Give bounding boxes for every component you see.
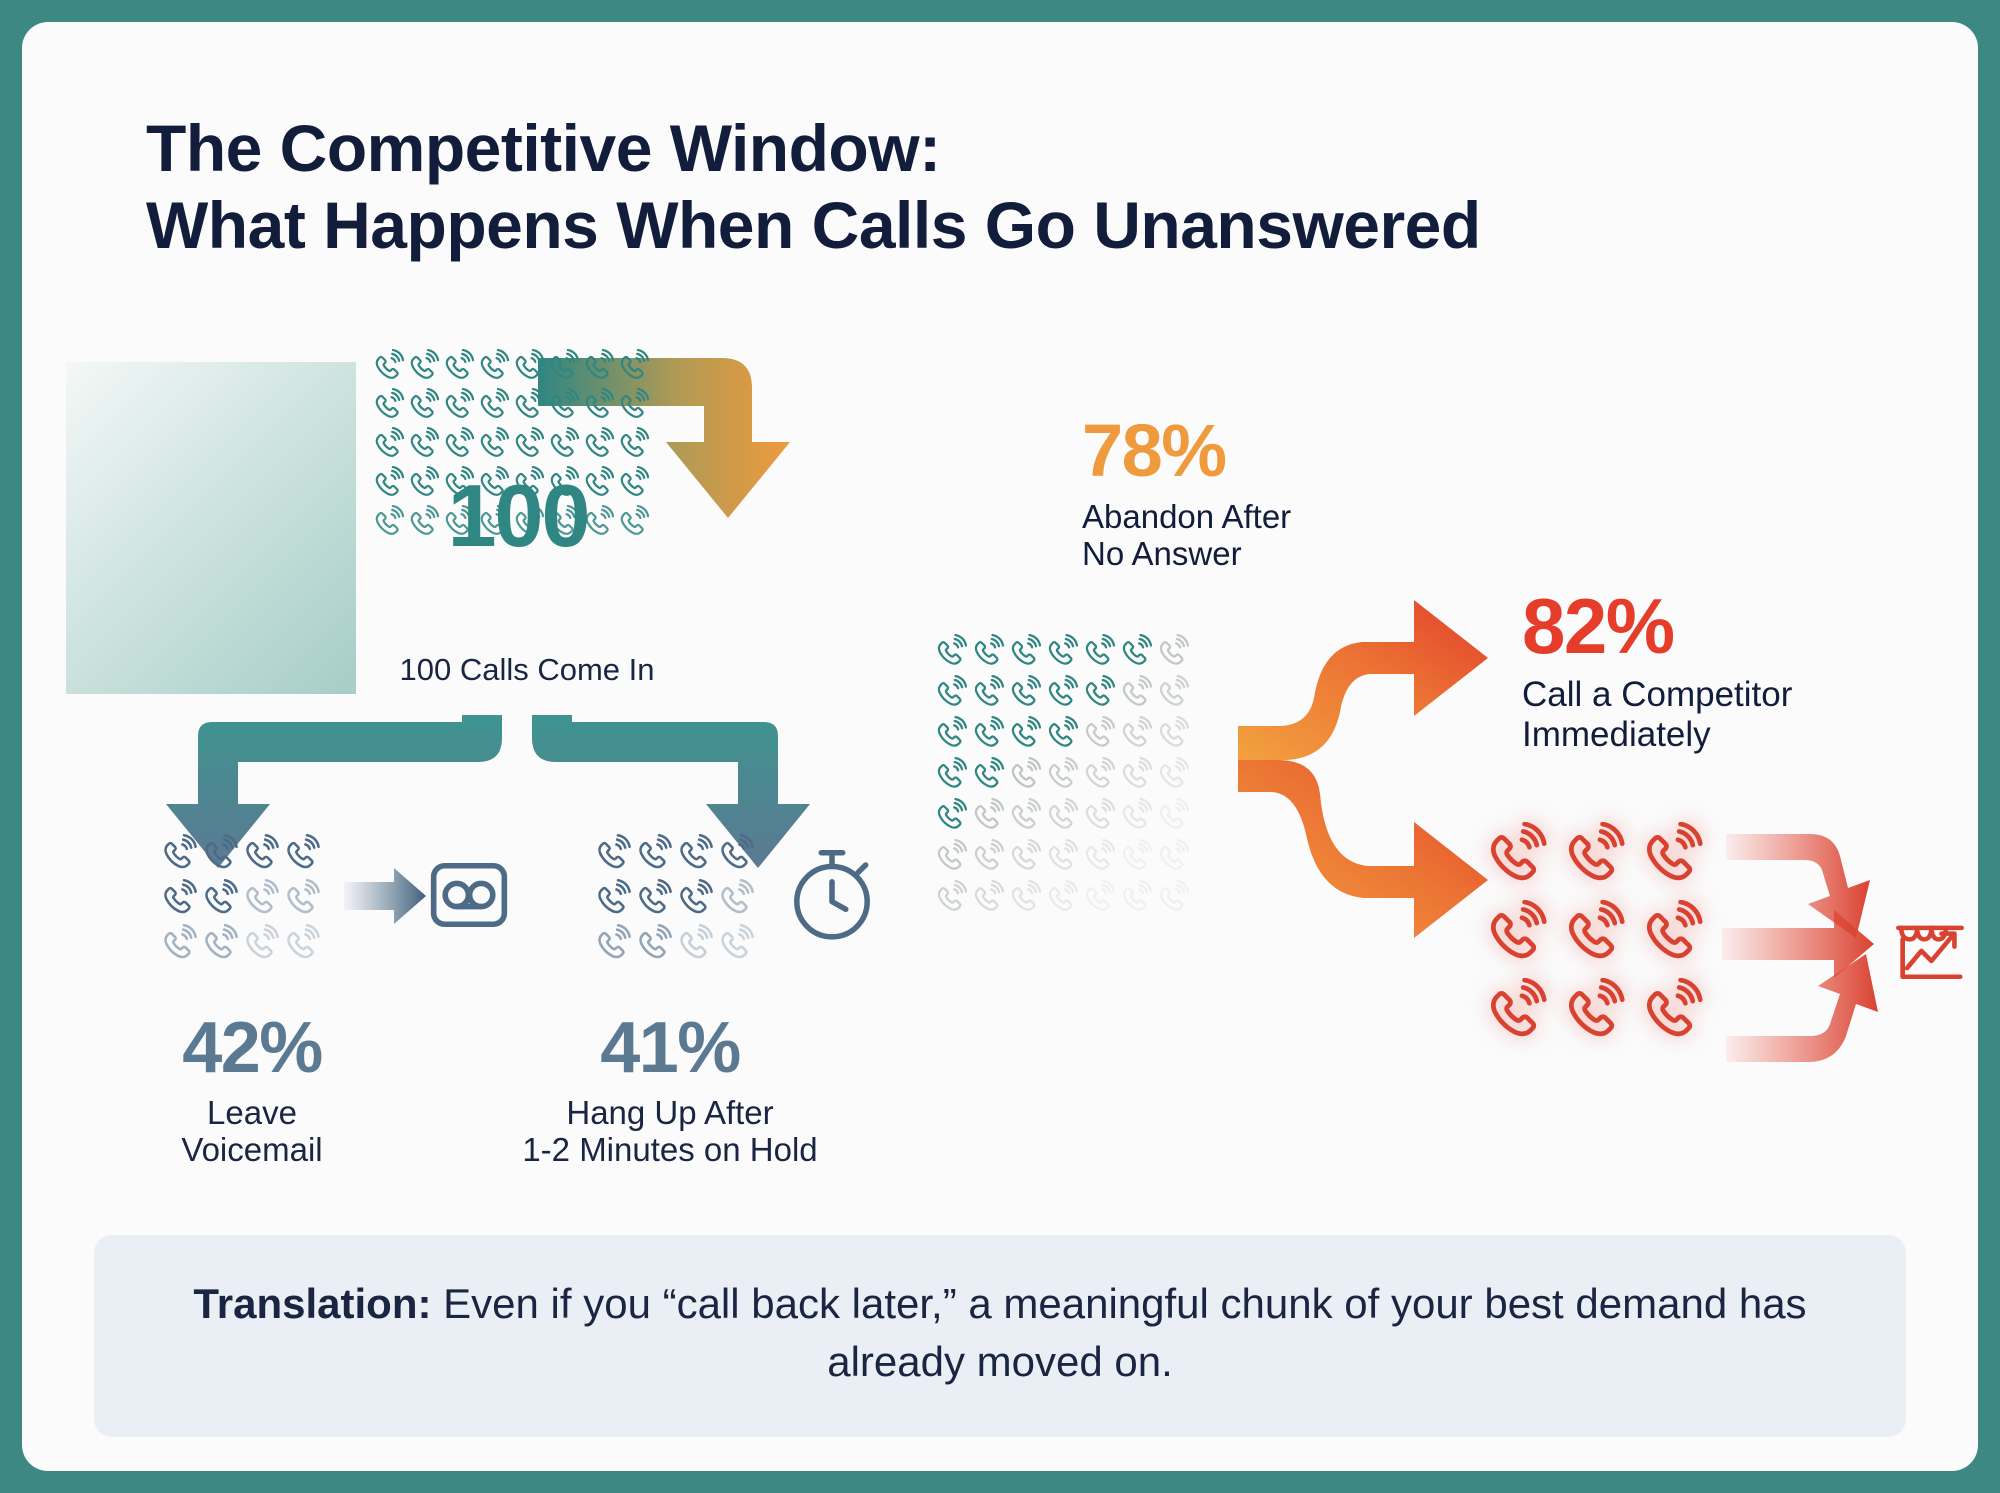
competitor-value: 82%: [1522, 587, 1792, 665]
phone-ringing-icon: [201, 834, 240, 873]
phone-ringing-icon: [1119, 839, 1154, 874]
phone-ringing-icon: [1082, 675, 1117, 710]
phone-ringing-icon: [512, 427, 546, 461]
arrow-to-voicemail: [344, 868, 426, 924]
translation-text: Translation: Even if you “call back late…: [154, 1275, 1846, 1391]
phone-ringing-icon: [372, 349, 406, 383]
phone-ringing-icon: [934, 757, 969, 792]
phone-ringing-icon: [1008, 798, 1043, 833]
phone-ringing-icon: [407, 427, 441, 461]
phone-ringing-icon: [1082, 798, 1117, 833]
hangup-label: Hang Up After 1-2 Minutes on Hold: [440, 1094, 900, 1169]
translation-lead: Translation:: [193, 1280, 431, 1327]
phone-ringing-icon: [512, 349, 546, 383]
phone-ringing-icon: [160, 879, 199, 918]
phone-ringing-icon: [1640, 900, 1706, 966]
phone-ringing-icon: [1119, 798, 1154, 833]
abandon-value: 78%: [1082, 414, 1291, 488]
phone-ringing-icon: [1156, 634, 1191, 669]
phone-ringing-icon: [1082, 716, 1117, 751]
arrow-competitor-to-store-bottom: [1726, 954, 1878, 1062]
phone-ringing-icon: [971, 675, 1006, 710]
phone-ringing-icon: [1562, 978, 1628, 1044]
phone-ringing-icon: [594, 834, 633, 873]
phone-ringing-icon: [1008, 675, 1043, 710]
stat-abandon: 78% Abandon After No Answer: [1082, 414, 1291, 573]
phone-ringing-icon: [1640, 822, 1706, 888]
phone-ringing-icon: [477, 388, 511, 422]
phone-ringing-icon: [635, 834, 674, 873]
phone-ringing-icon: [160, 924, 199, 963]
arrow-competitor-to-store-mid: [1722, 910, 1874, 978]
phone-ringing-icon: [1045, 675, 1080, 710]
phone-ringing-icon: [971, 880, 1006, 915]
phone-ringing-icon: [617, 427, 651, 461]
phone-ringing-icon: [676, 924, 715, 963]
phone-ringing-icon: [617, 388, 651, 422]
phone-ringing-icon: [1045, 716, 1080, 751]
hangup-value: 41%: [440, 1012, 900, 1084]
phone-ringing-icon: [242, 924, 281, 963]
phone-ringing-icon: [1008, 757, 1043, 792]
abandon-label: Abandon After No Answer: [1082, 498, 1291, 573]
phone-ringing-icon: [1119, 634, 1154, 669]
phone-ringing-icon: [1008, 716, 1043, 751]
phone-ringing-icon: [512, 388, 546, 422]
intake-caption: 100 Calls Come In: [362, 652, 692, 688]
phone-ringing-icon: [1156, 880, 1191, 915]
phone-ringing-icon: [547, 349, 581, 383]
phone-ringing-icon: [1119, 880, 1154, 915]
phone-ringing-icon: [676, 834, 715, 873]
phone-ringing-icon: [1045, 634, 1080, 669]
phone-ringing-icon: [971, 757, 1006, 792]
phone-ringing-icon: [201, 924, 240, 963]
phone-ringing-icon: [1484, 978, 1550, 1044]
decorative-gradient-block: [66, 362, 356, 694]
phone-ringing-icon: [1640, 978, 1706, 1044]
phone-ringing-icon: [971, 634, 1006, 669]
stopwatch-icon: [782, 842, 882, 946]
phone-ringing-icon: [934, 880, 969, 915]
phone-ringing-icon: [1484, 822, 1550, 888]
infographic-frame: The Competitive Window: What Happens Whe…: [0, 0, 2000, 1493]
competitor-label: Call a Competitor Immediately: [1522, 675, 1792, 754]
phone-ringing-icon: [1484, 900, 1550, 966]
phone-ringing-icon: [442, 427, 476, 461]
phone-ringing-icon: [1156, 675, 1191, 710]
phone-ringing-icon: [1156, 798, 1191, 833]
store-growth-chart-icon: [1884, 902, 1976, 994]
phone-ringing-icon: [582, 427, 616, 461]
phone-ringing-icon: [1119, 675, 1154, 710]
phone-ringing-icon: [594, 924, 633, 963]
voicemail-label: Leave Voicemail: [102, 1094, 402, 1169]
phone-ringing-icon: [971, 839, 1006, 874]
phone-ringing-icon: [1156, 757, 1191, 792]
phone-ringing-icon: [934, 839, 969, 874]
phone-ringing-icon: [617, 349, 651, 383]
phone-ringing-icon: [1045, 798, 1080, 833]
voicemail-value: 42%: [102, 1012, 402, 1084]
phone-ringing-icon: [283, 924, 322, 963]
phone-ringing-icon: [283, 834, 322, 873]
phone-ringing-icon: [1082, 880, 1117, 915]
phone-ringing-icon: [201, 879, 240, 918]
infographic-card: The Competitive Window: What Happens Whe…: [22, 22, 1978, 1471]
phone-ringing-icon: [1045, 839, 1080, 874]
phone-ringing-icon: [635, 924, 674, 963]
phone-ringing-icon: [407, 349, 441, 383]
phone-ringing-icon: [635, 879, 674, 918]
phone-ringing-icon: [934, 634, 969, 669]
phone-ringing-icon: [442, 388, 476, 422]
phone-ringing-icon: [971, 798, 1006, 833]
arrow-abandon-to-competitor: [1238, 600, 1488, 938]
intake-value: 100: [378, 465, 658, 567]
phone-ringing-icon: [1562, 822, 1628, 888]
phone-ringing-icon: [407, 388, 441, 422]
phone-ringing-icon: [1562, 900, 1628, 966]
phone-ringing-icon: [934, 798, 969, 833]
phone-ringing-icon: [477, 427, 511, 461]
phone-ringing-icon: [717, 834, 756, 873]
phone-ringing-icon: [1156, 716, 1191, 751]
phone-ringing-icon: [1156, 839, 1191, 874]
phone-ringing-icon: [372, 388, 406, 422]
phone-ringing-icon: [242, 834, 281, 873]
phone-ringing-icon: [594, 879, 633, 918]
phone-ringing-icon: [1082, 634, 1117, 669]
phone-icon-grid-hangup: [594, 834, 758, 969]
phone-ringing-icon: [1119, 757, 1154, 792]
translation-banner: Translation: Even if you “call back late…: [94, 1235, 1906, 1437]
arrow-competitor-to-store-top: [1726, 834, 1870, 938]
phone-ringing-icon: [1082, 757, 1117, 792]
voicemail-cassette-icon: [430, 860, 508, 930]
phone-icon-grid-voicemail: [160, 834, 324, 969]
phone-ringing-icon: [582, 388, 616, 422]
phone-ringing-icon: [971, 716, 1006, 751]
phone-ringing-icon: [477, 349, 511, 383]
stat-voicemail: 42% Leave Voicemail: [102, 1012, 402, 1169]
phone-ringing-icon: [283, 879, 322, 918]
phone-ringing-icon: [1045, 757, 1080, 792]
phone-ringing-icon: [1008, 634, 1043, 669]
stat-competitor: 82% Call a Competitor Immediately: [1522, 587, 1792, 754]
phone-ringing-icon: [547, 427, 581, 461]
phone-ringing-icon: [1008, 839, 1043, 874]
phone-icon-grid-competitor: [1484, 822, 1718, 1056]
phone-ringing-icon: [1008, 880, 1043, 915]
phone-ringing-icon: [547, 388, 581, 422]
phone-ringing-icon: [442, 349, 476, 383]
phone-ringing-icon: [372, 427, 406, 461]
phone-icon-grid-abandon: [934, 634, 1193, 921]
phone-ringing-icon: [242, 879, 281, 918]
page-title: The Competitive Window: What Happens Whe…: [146, 110, 1481, 264]
phone-ringing-icon: [934, 675, 969, 710]
phone-ringing-icon: [717, 924, 756, 963]
stat-hangup: 41% Hang Up After 1-2 Minutes on Hold: [440, 1012, 900, 1169]
translation-body: Even if you “call back later,” a meaning…: [431, 1280, 1806, 1385]
phone-ringing-icon: [1082, 839, 1117, 874]
phone-ringing-icon: [934, 716, 969, 751]
phone-ringing-icon: [1119, 716, 1154, 751]
phone-ringing-icon: [717, 879, 756, 918]
phone-ringing-icon: [582, 349, 616, 383]
phone-ringing-icon: [676, 879, 715, 918]
phone-ringing-icon: [160, 834, 199, 873]
phone-ringing-icon: [1045, 880, 1080, 915]
